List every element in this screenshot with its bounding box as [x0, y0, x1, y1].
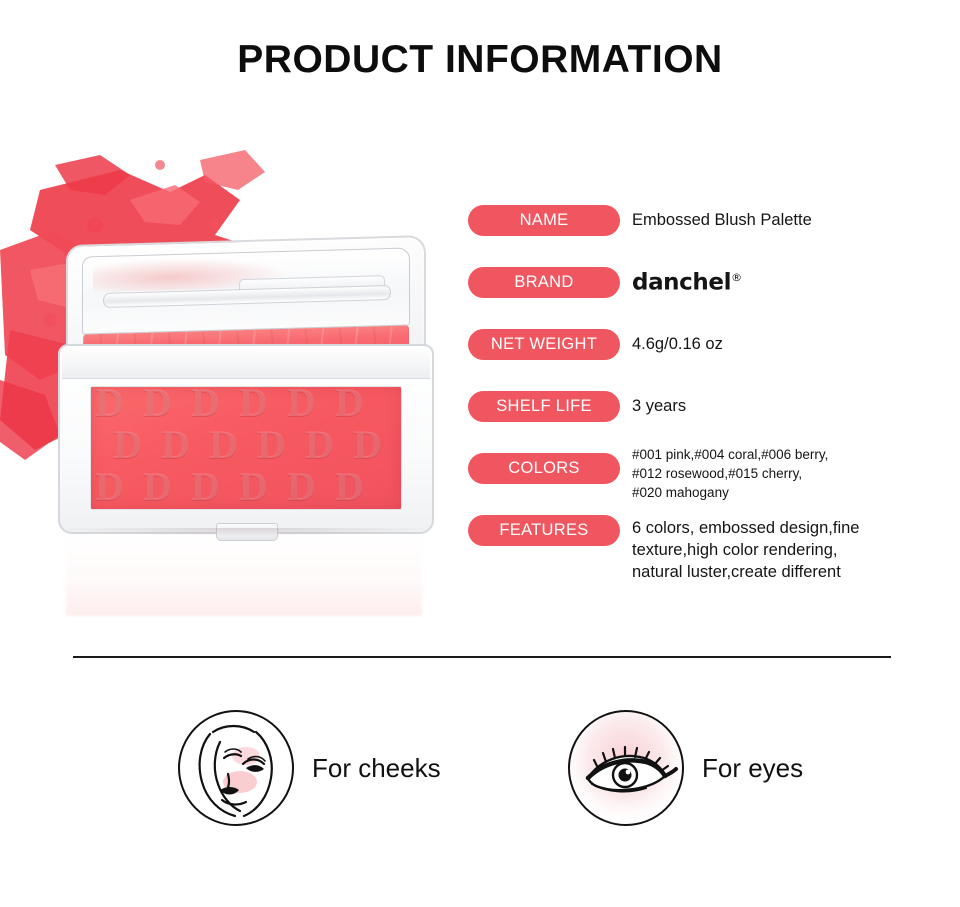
compact-reflection — [66, 530, 422, 616]
emboss-letter: D — [287, 467, 316, 507]
emboss-letter: D — [161, 425, 190, 465]
emboss-letter: D — [287, 386, 316, 423]
compact-hinge-band — [62, 348, 430, 379]
spec-label-colors: COLORS — [468, 453, 620, 484]
spec-label-name: NAME — [468, 205, 620, 236]
product-image: D D D D D D D D D D D D D D D D D — [0, 130, 452, 630]
spec-value-shelf-life: 3 years — [632, 395, 932, 417]
usage-section: For cheeks — [0, 700, 960, 840]
eye-makeup-icon — [568, 710, 684, 826]
product-information-page: PRODUCT INFORMATION — [0, 0, 960, 907]
emboss-letter: D — [191, 467, 220, 507]
spec-value-brand: danchel® — [632, 267, 932, 294]
compact-base: D D D D D D D D D D D D D D D D D — [58, 344, 434, 534]
spec-value-features: 6 colors, embossed design,fine texture,h… — [632, 517, 932, 583]
usage-item-eyes: For eyes — [568, 710, 803, 826]
lid-clear-window — [82, 247, 410, 334]
usage-item-cheeks: For cheeks — [178, 710, 441, 826]
spec-value-name: Embossed Blush Palette — [632, 209, 932, 231]
emboss-letter: D — [353, 425, 382, 465]
spec-label-shelf-life: SHELF LIFE — [468, 391, 620, 422]
emboss-letter: D — [113, 425, 142, 465]
emboss-letter: D — [239, 467, 268, 507]
face-blush-icon — [178, 710, 294, 826]
spec-label-net-weight: NET WEIGHT — [468, 329, 620, 360]
compact-lid — [66, 235, 426, 359]
brand-name: danchel — [632, 270, 731, 296]
spec-label-features: FEATURES — [468, 515, 620, 546]
emboss-letter: D — [335, 386, 364, 423]
emboss-letter: D — [209, 425, 238, 465]
page-title: PRODUCT INFORMATION — [0, 38, 960, 82]
emboss-letter: D — [143, 467, 172, 507]
spec-label-brand: BRAND — [468, 267, 620, 298]
usage-label-cheeks: For cheeks — [312, 753, 441, 784]
emboss-letter: D — [305, 425, 334, 465]
trademark-icon: ® — [731, 271, 742, 284]
emboss-letter: D — [239, 386, 268, 423]
emboss-letter: D — [335, 467, 364, 507]
blush-compact: D D D D D D D D D D D D D D D D D — [58, 240, 430, 530]
emboss-letter: D — [143, 386, 172, 423]
emboss-letter: D — [257, 425, 286, 465]
emboss-letter: D — [95, 386, 124, 423]
section-divider — [73, 656, 891, 658]
emboss-letter: D — [95, 467, 124, 507]
emboss-letter: D — [191, 386, 220, 423]
spec-value-net-weight: 4.6g/0.16 oz — [632, 333, 932, 355]
spec-value-colors: #001 pink,#004 coral,#006 berry, #012 ro… — [632, 445, 932, 502]
blush-pan: D D D D D D D D D D D D D D D D D — [90, 386, 402, 510]
usage-label-eyes: For eyes — [702, 753, 803, 784]
